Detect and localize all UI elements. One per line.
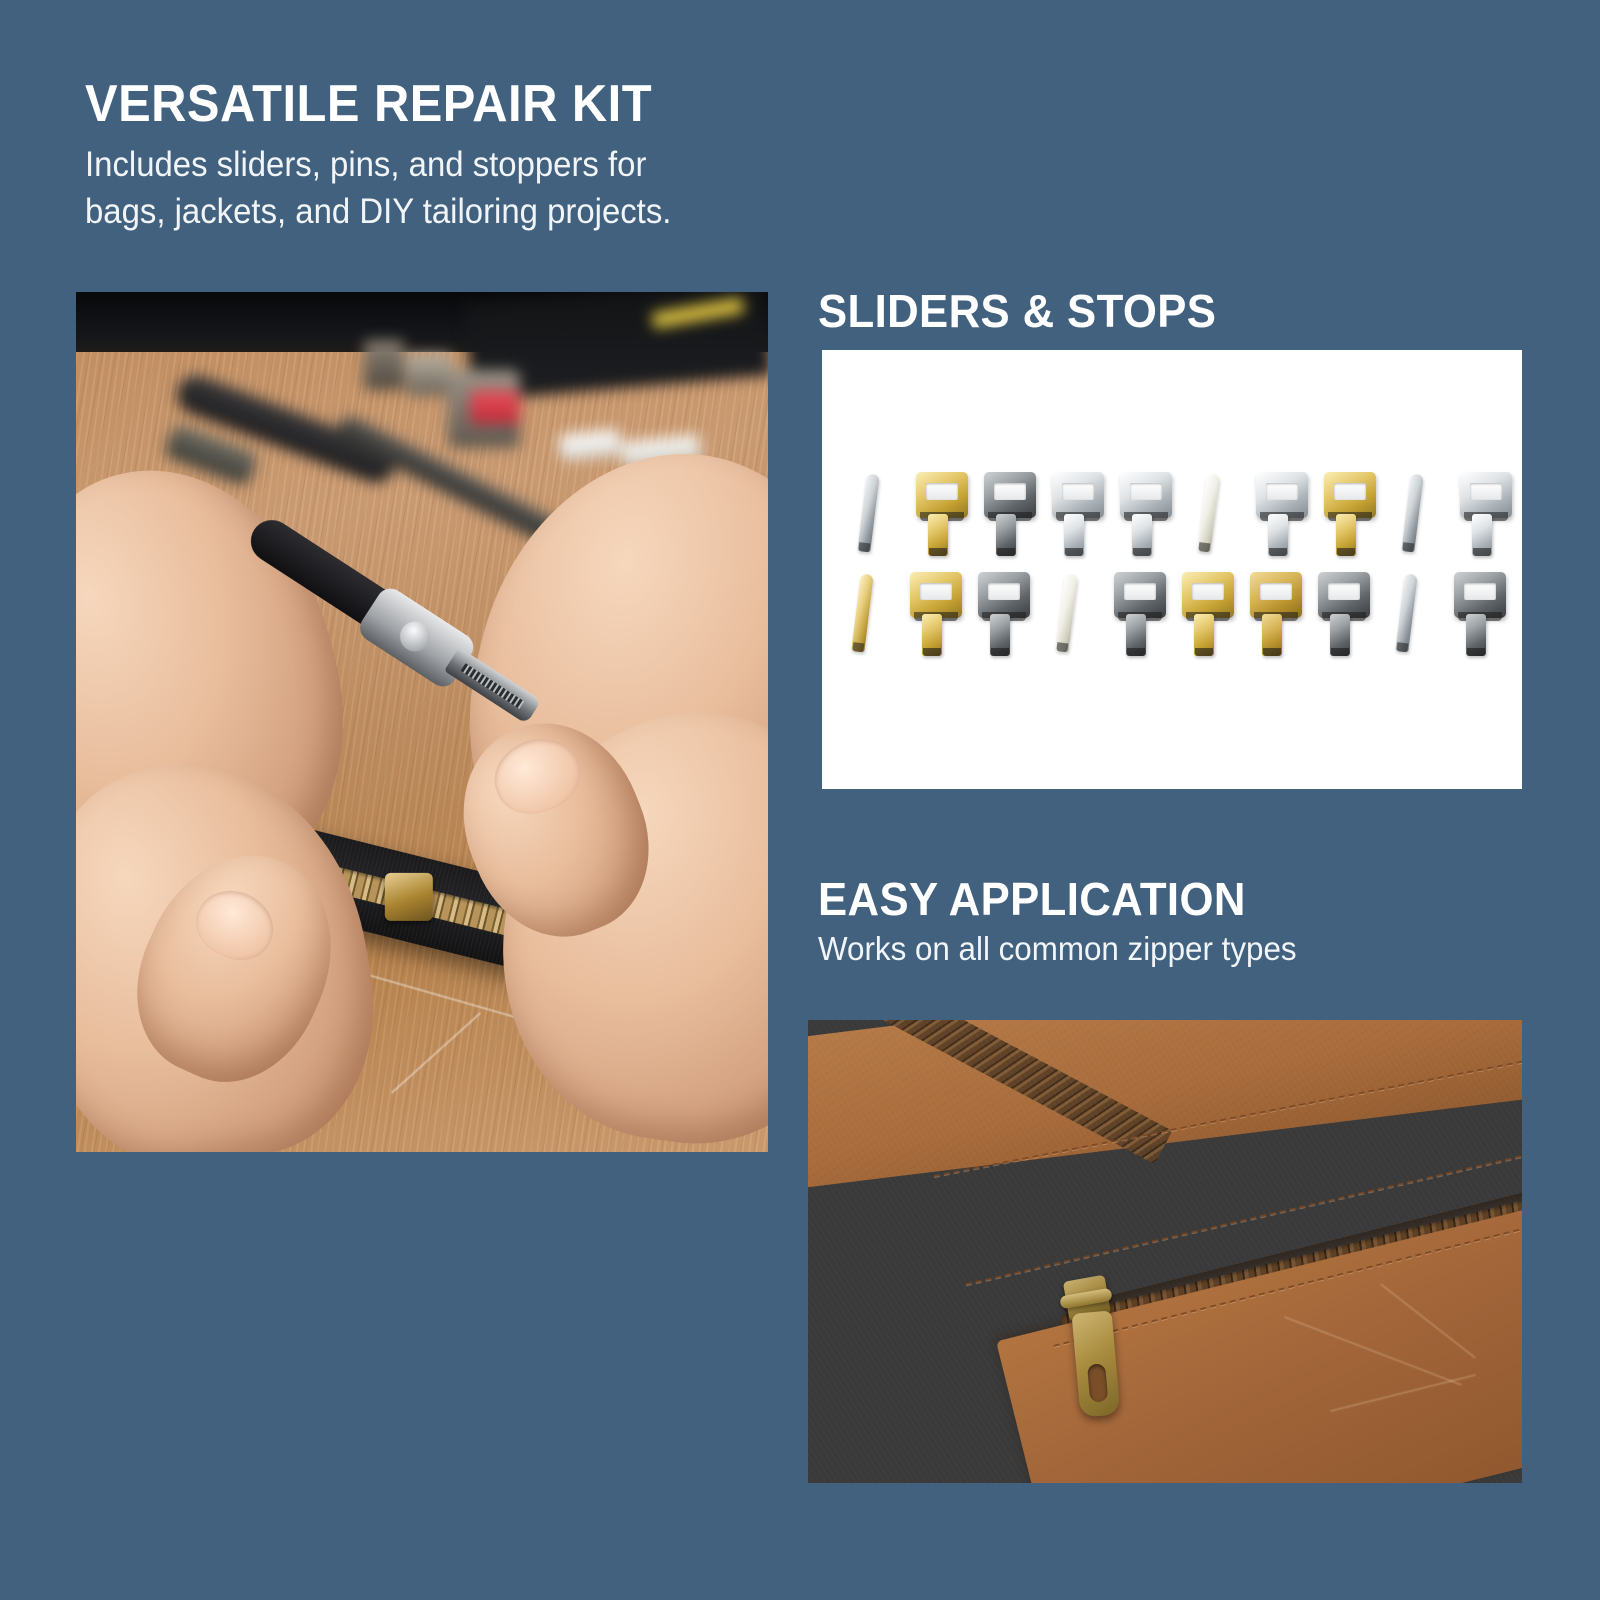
- retainer-box-post: [1336, 514, 1356, 556]
- hardware-item-retainer-box: [908, 468, 976, 560]
- hero-photo-zipper-repair: [76, 292, 768, 1152]
- retainer-box-icon: [1182, 572, 1234, 618]
- retainer-box-post: [1268, 514, 1288, 556]
- retainer-box-post: [1262, 614, 1282, 656]
- retainer-box-post: [928, 514, 948, 556]
- retainer-box-post: [1466, 614, 1486, 656]
- retainer-box-post: [1194, 614, 1214, 656]
- retainer-box-icon: [984, 472, 1036, 518]
- insertion-pin-icon: [851, 573, 873, 652]
- insertion-pin-icon: [1197, 473, 1219, 552]
- section-title-sliders-stops: SLIDERS & STOPS: [818, 284, 1216, 338]
- retainer-box-icon: [1460, 472, 1512, 518]
- hardware-item-insertion-pin: [1180, 468, 1248, 560]
- page-subtitle: Includes sliders, pins, and stoppers for…: [85, 142, 671, 235]
- hardware-item-insertion-pin: [1038, 568, 1106, 660]
- section-title-easy-application: EASY APPLICATION: [818, 872, 1246, 926]
- retainer-box-post: [1126, 614, 1146, 656]
- lifestyle-photo-leather-bag: [808, 1020, 1522, 1483]
- retainer-box-post: [1132, 514, 1152, 556]
- retainer-box-icon: [1454, 572, 1506, 618]
- retainer-box-icon: [1256, 472, 1308, 518]
- retainer-box-icon: [916, 472, 968, 518]
- hardware-row: [840, 468, 1520, 560]
- retainer-box-icon: [1250, 572, 1302, 618]
- photo-tool-case-label: [651, 297, 744, 329]
- insertion-pin-icon: [1401, 473, 1423, 552]
- hardware-item-retainer-box: [1446, 568, 1514, 660]
- photo-loose-hardware-2: [406, 354, 452, 396]
- retainer-box-icon: [1324, 472, 1376, 518]
- section-subtitle-easy-application: Works on all common zipper types: [818, 930, 1297, 968]
- retainer-box-post: [1064, 514, 1084, 556]
- hardware-item-retainer-box: [976, 468, 1044, 560]
- insertion-pin-icon: [1395, 573, 1417, 652]
- hardware-item-insertion-pin: [1384, 468, 1452, 560]
- retainer-box-icon: [1052, 472, 1104, 518]
- photo-brass-zipper-stop: [385, 873, 433, 921]
- hardware-item-retainer-box: [1248, 468, 1316, 560]
- hardware-item-retainer-box: [1044, 468, 1112, 560]
- page-title: VERSATILE REPAIR KIT: [85, 78, 652, 131]
- hardware-item-retainer-box: [1106, 568, 1174, 660]
- product-photo-sliders-stops: [822, 350, 1522, 789]
- hardware-item-retainer-box: [970, 568, 1038, 660]
- hardware-row: [834, 568, 1514, 660]
- infographic-canvas: VERSATILE REPAIR KIT Includes sliders, p…: [0, 0, 1600, 1600]
- hardware-item-retainer-box: [1316, 468, 1384, 560]
- retainer-box-post: [990, 614, 1010, 656]
- hardware-item-retainer-box: [902, 568, 970, 660]
- retainer-box-icon: [1120, 472, 1172, 518]
- hardware-item-retainer-box: [1112, 468, 1180, 560]
- retainer-box-post: [1330, 614, 1350, 656]
- retainer-box-post: [1472, 514, 1492, 556]
- hardware-item-insertion-pin: [840, 468, 908, 560]
- hardware-item-retainer-box: [1174, 568, 1242, 660]
- hardware-item-insertion-pin: [834, 568, 902, 660]
- insertion-pin-icon: [857, 473, 879, 552]
- retainer-box-icon: [978, 572, 1030, 618]
- photo-red-cap-part: [470, 390, 520, 424]
- retainer-box-icon: [910, 572, 962, 618]
- retainer-box-icon: [1114, 572, 1166, 618]
- hardware-item-insertion-pin: [1378, 568, 1446, 660]
- retainer-box-post: [996, 514, 1016, 556]
- insertion-pin-icon: [1055, 573, 1077, 652]
- photo-loose-hardware-1: [364, 340, 404, 390]
- hardware-item-retainer-box: [1242, 568, 1310, 660]
- retainer-box-icon: [1318, 572, 1370, 618]
- retainer-box-post: [922, 614, 942, 656]
- hardware-item-retainer-box: [1310, 568, 1378, 660]
- hardware-item-retainer-box: [1452, 468, 1520, 560]
